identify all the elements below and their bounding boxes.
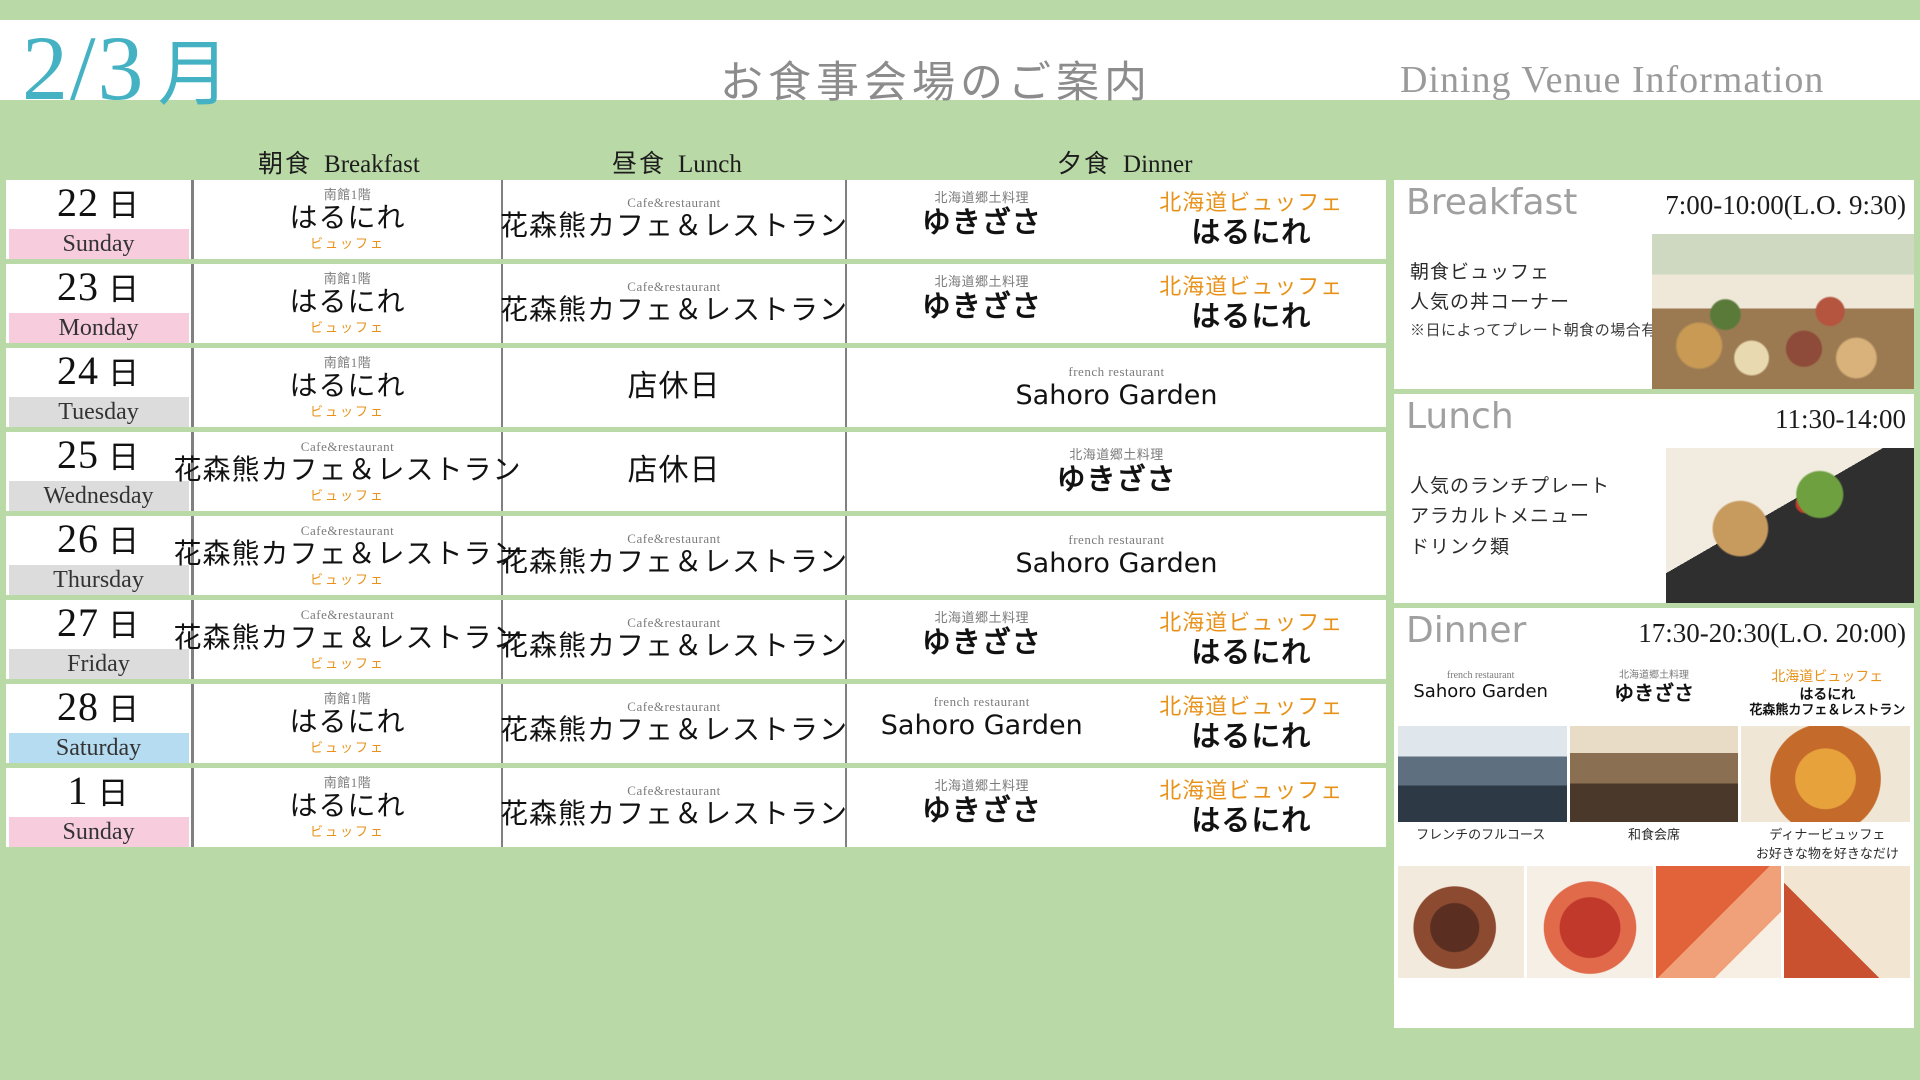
venue-sup-label: 南館1階: [324, 188, 372, 202]
venue-name: はるにれ: [1191, 301, 1311, 332]
dinner-cell[interactable]: french restaurantSahoro Garden: [847, 516, 1386, 595]
venue-dinner-0: 北海道郷土料理ゆきざさ: [847, 448, 1386, 495]
breakfast-cell[interactable]: 南館1階はるにれビュッフェ: [194, 180, 503, 259]
weekday-badge: Wednesday: [9, 481, 189, 511]
venue-sup-label: french restaurant: [1068, 533, 1164, 547]
venue-sup-label: 南館1階: [324, 272, 372, 286]
venue-breakfast: 南館1階はるにれビュッフェ: [289, 188, 405, 251]
column-header-lunch-jp: 昼食: [612, 151, 666, 178]
dinner-panel-venue-name: Sahoro Garden: [1413, 681, 1548, 702]
venue-sup-label: Cafe&restaurant: [627, 280, 720, 294]
day-number: 27日: [57, 601, 140, 647]
venue-dinner-0: french restaurantSahoro Garden: [847, 533, 1386, 578]
lunch-cell[interactable]: Cafe&restaurant花森熊カフェ＆レストラン: [503, 600, 847, 679]
lunch-cell[interactable]: Cafe&restaurant花森熊カフェ＆レストラン: [503, 684, 847, 763]
venue-sup-label: 南館1階: [324, 356, 372, 370]
venue-lunch: Cafe&restaurant花森熊カフェ＆レストラン: [500, 700, 848, 746]
venue-name: 花森熊カフェ＆レストラン: [500, 212, 848, 242]
panel-breakfast-note: ※日によってプレート朝食の場合有り: [1410, 319, 1672, 343]
lunch-cell[interactable]: 店休日: [503, 348, 847, 427]
venue-sub-label: ビュッフェ: [310, 573, 385, 587]
breakfast-cell[interactable]: 南館1階はるにれビュッフェ: [194, 684, 503, 763]
panel-lunch-line-3: ドリンク類: [1410, 533, 1610, 563]
table-row[interactable]: 24日Tuesday南館1階はるにれビュッフェ店休日french restaur…: [6, 348, 1386, 427]
panel-lunch: Lunch 11:30-14:00 人気のランチプレート アラカルトメニュー ド…: [1394, 394, 1914, 603]
venue-sup-label: 南館1階: [324, 692, 372, 706]
day-cell: 22日Sunday: [6, 180, 194, 259]
venue-sub-label: ビュッフェ: [310, 237, 385, 251]
panel-lunch-lines: 人気のランチプレート アラカルトメニュー ドリンク類: [1410, 472, 1610, 563]
panel-lunch-title: Lunch: [1406, 396, 1514, 437]
venue-sup-label: 北海道郷土料理: [934, 611, 1029, 625]
dinner-panel-venue-name: ゆきざさ: [1614, 681, 1694, 705]
venue-sup-label: 北海道郷土料理: [934, 191, 1029, 205]
dinner-panel-venue-sup: 北海道ビュッフェ: [1741, 670, 1914, 686]
dinner-cell[interactable]: french restaurantSahoro Garden: [847, 348, 1386, 427]
venue-sup-label: Cafe&restaurant: [301, 524, 394, 538]
dinner-panel-venue-0: french restaurantSahoro Garden: [1394, 670, 1567, 719]
venue-dinner-1: 北海道ビュッフェはるにれ: [1117, 275, 1387, 332]
venue-breakfast: 南館1階はるにれビュッフェ: [289, 272, 405, 335]
dinner-caption-list: フレンチのフルコース和食会席ディナービュッフェお好きな物を好きなだけ: [1394, 826, 1914, 864]
venue-lunch: Cafe&restaurant花森熊カフェ＆レストラン: [500, 616, 848, 662]
breakfast-cell[interactable]: Cafe&restaurant花森熊カフェ＆レストランビュッフェ: [194, 600, 503, 679]
panel-breakfast-line-2: 人気の丼コーナー: [1410, 288, 1672, 318]
day-unit: 日: [108, 188, 140, 223]
lunch-cell[interactable]: Cafe&restaurant花森熊カフェ＆レストラン: [503, 180, 847, 259]
weekday-badge: Thursday: [9, 565, 189, 595]
venue-sub-label: ビュッフェ: [310, 405, 385, 419]
venue-sub-label: ビュッフェ: [310, 825, 385, 839]
restaurant-interior-french-photo: [1398, 726, 1567, 822]
venue-name: 店休日: [628, 371, 721, 403]
venue-sub-label: ビュッフェ: [310, 657, 385, 671]
venue-lunch: Cafe&restaurant花森熊カフェ＆レストラン: [500, 196, 848, 242]
plated-dish-photo: [1784, 866, 1910, 978]
venue-name: はるにれ: [289, 204, 405, 234]
venue-sup-label: 北海道ビュッフェ: [1159, 695, 1343, 719]
venue-sub-label: ビュッフェ: [310, 489, 385, 503]
day-cell: 26日Thursday: [6, 516, 194, 595]
panel-dinner-title: Dinner: [1406, 610, 1526, 651]
restaurant-interior-japanese-photo: [1570, 726, 1739, 822]
panel-dinner: Dinner 17:30-20:30(L.O. 20:00) french re…: [1394, 608, 1914, 1028]
venue-name: 花森熊カフェ＆レストラン: [500, 716, 848, 746]
venue-name: ゆきざさ: [1056, 464, 1176, 495]
steak-dish-photo: [1398, 866, 1524, 978]
lunch-cell[interactable]: Cafe&restaurant花森熊カフェ＆レストラン: [503, 264, 847, 343]
table-row[interactable]: 26日ThursdayCafe&restaurant花森熊カフェ＆レストランビュ…: [6, 516, 1386, 595]
venue-sup-label: 北海道ビュッフェ: [1159, 275, 1343, 299]
venue-dinner-0: french restaurantSahoro Garden: [847, 365, 1386, 410]
day-unit: 日: [108, 272, 140, 307]
crab-dish-photo: [1656, 866, 1782, 978]
venue-sup-label: 北海道郷土料理: [934, 275, 1029, 289]
venue-name: はるにれ: [1191, 721, 1311, 752]
venue-sub-label: ビュッフェ: [310, 741, 385, 755]
venue-sup-label: Cafe&restaurant: [627, 532, 720, 546]
lunch-cell[interactable]: Cafe&restaurant花森熊カフェ＆レストラン: [503, 768, 847, 847]
column-header-dinner: 夕食Dinner: [1057, 144, 1192, 180]
venue-lunch: Cafe&restaurant花森熊カフェ＆レストラン: [500, 280, 848, 326]
dinner-cell[interactable]: french restaurantSahoro Garden北海道ビュッフェはる…: [847, 684, 1386, 763]
panel-breakfast-lines: 朝食ビュッフェ 人気の丼コーナー ※日によってプレート朝食の場合有り: [1410, 258, 1672, 343]
dinner-cell[interactable]: 北海道郷土料理ゆきざさ北海道ビュッフェはるにれ: [847, 180, 1386, 259]
venue-name: はるにれ: [289, 708, 405, 738]
venue-dinner-1: 北海道ビュッフェはるにれ: [1117, 191, 1387, 248]
venue-sup-label: 北海道ビュッフェ: [1159, 779, 1343, 803]
venue-sup-label: Cafe&restaurant: [627, 196, 720, 210]
weekday-badge: Sunday: [9, 817, 189, 847]
column-header-lunch: 昼食Lunch: [612, 144, 742, 180]
breakfast-cell[interactable]: 南館1階はるにれビュッフェ: [194, 768, 503, 847]
day-number: 28日: [57, 685, 140, 731]
venue-breakfast: Cafe&restaurant花森熊カフェ＆レストランビュッフェ: [174, 608, 522, 671]
venue-name: 花森熊カフェ＆レストラン: [500, 296, 848, 326]
venue-name: はるにれ: [1191, 217, 1311, 248]
dinner-caption-2: ディナービュッフェお好きな物を好きなだけ: [1741, 826, 1914, 864]
dinner-caption-0: フレンチのフルコース: [1394, 826, 1567, 864]
venue-name: 花森熊カフェ＆レストラン: [174, 540, 522, 570]
venue-lunch: Cafe&restaurant花森熊カフェ＆レストラン: [500, 532, 848, 578]
panel-lunch-hours: 11:30-14:00: [1775, 404, 1906, 435]
venue-name: 花森熊カフェ＆レストラン: [174, 624, 522, 654]
dinner-cell[interactable]: 北海道郷土料理ゆきざさ北海道ビュッフェはるにれ: [847, 264, 1386, 343]
date-unit: 月: [158, 35, 232, 115]
venue-sup-label: 北海道郷土料理: [1069, 448, 1164, 462]
venue-breakfast: 南館1階はるにれビュッフェ: [289, 692, 405, 755]
header-band: 2/3月 お食事会場のご案内 Dining Venue Information: [0, 20, 1920, 100]
venue-name: ゆきざさ: [922, 291, 1042, 322]
dinner-cell[interactable]: 北海道郷土料理ゆきざさ: [847, 432, 1386, 511]
venue-sup-label: Cafe&restaurant: [627, 700, 720, 714]
day-cell: 23日Monday: [6, 264, 194, 343]
weekday-badge: Monday: [9, 313, 189, 343]
breakfast-cell[interactable]: 南館1階はるにれビュッフェ: [194, 264, 503, 343]
day-unit: 日: [108, 608, 140, 643]
venue-sup-label: Cafe&restaurant: [627, 616, 720, 630]
venue-dinner-0: 北海道郷土料理ゆきざさ: [847, 275, 1117, 332]
page-title-jp: お食事会場のご案内: [720, 48, 1152, 110]
breakfast-cell[interactable]: 南館1階はるにれビュッフェ: [194, 348, 503, 427]
date-value: 2/3: [22, 17, 146, 119]
day-number: 26日: [57, 517, 140, 563]
meal-info-panels: Breakfast 7:00-10:00(L.O. 9:30) 朝食ビュッフェ …: [1394, 180, 1914, 1033]
venue-name: はるにれ: [1191, 637, 1311, 668]
soup-dish-photo: [1527, 866, 1653, 978]
day-unit: 日: [108, 524, 140, 559]
day-cell: 28日Saturday: [6, 684, 194, 763]
venue-name: Sahoro Garden: [1016, 381, 1218, 410]
lunch-cell[interactable]: Cafe&restaurant花森熊カフェ＆レストラン: [503, 516, 847, 595]
venue-sup-label: 北海道ビュッフェ: [1159, 191, 1343, 215]
dinner-cell[interactable]: 北海道郷土料理ゆきざさ北海道ビュッフェはるにれ: [847, 600, 1386, 679]
panel-breakfast-title: Breakfast: [1406, 182, 1577, 223]
dinner-panel-venue-name: はるにれ: [1799, 687, 1855, 703]
column-header-breakfast: 朝食Breakfast: [258, 144, 420, 180]
day-unit: 日: [108, 440, 140, 475]
venue-name: ゆきざさ: [922, 207, 1042, 238]
venue-dinner-1: 北海道ビュッフェはるにれ: [1117, 779, 1387, 836]
dining-venue-information-page: 2/3月 お食事会場のご案内 Dining Venue Information …: [0, 0, 1920, 1080]
venue-name: はるにれ: [1191, 805, 1311, 836]
venue-name: はるにれ: [289, 288, 405, 318]
panel-breakfast-hours: 7:00-10:00(L.O. 9:30): [1665, 190, 1906, 221]
venue-dinner-0: 北海道郷土料理ゆきざさ: [847, 191, 1117, 248]
day-unit: 日: [108, 692, 140, 727]
page-title-en: Dining Venue Information: [1400, 58, 1824, 102]
day-number: 22日: [57, 181, 140, 227]
breakfast-cell[interactable]: Cafe&restaurant花森熊カフェ＆レストランビュッフェ: [194, 432, 503, 511]
venue-name: Sahoro Garden: [1016, 549, 1218, 578]
venue-name: 花森熊カフェ＆レストラン: [500, 800, 848, 830]
venue-sub-label: ビュッフェ: [310, 321, 385, 335]
column-header-dinner-jp: 夕食: [1057, 151, 1111, 178]
venue-sup-label: french restaurant: [1068, 365, 1164, 379]
day-cell: 1日Sunday: [6, 768, 194, 847]
venue-name: 花森熊カフェ＆レストラン: [500, 632, 848, 662]
venue-breakfast: Cafe&restaurant花森熊カフェ＆レストランビュッフェ: [174, 524, 522, 587]
day-number: 25日: [57, 433, 140, 479]
venue-dinner-0: 北海道郷土料理ゆきざさ: [847, 611, 1117, 668]
panel-dinner-hours: 17:30-20:30(L.O. 20:00): [1638, 618, 1906, 649]
panel-breakfast: Breakfast 7:00-10:00(L.O. 9:30) 朝食ビュッフェ …: [1394, 180, 1914, 389]
column-header-lunch-en: Lunch: [678, 151, 742, 178]
day-unit: 日: [108, 356, 140, 391]
dinner-panel-venue-1: 北海道郷土料理ゆきざさ: [1567, 670, 1740, 719]
venue-sup-label: Cafe&restaurant: [301, 608, 394, 622]
column-headers: 朝食Breakfast 昼食Lunch 夕食Dinner: [0, 144, 1390, 180]
buffet-dish-photo: [1741, 726, 1910, 822]
venue-dinner-0: 北海道郷土料理ゆきざさ: [847, 779, 1117, 836]
day-number: 23日: [57, 265, 140, 311]
day-cell: 24日Tuesday: [6, 348, 194, 427]
venue-name: はるにれ: [289, 792, 405, 822]
table-row[interactable]: 28日Saturday南館1階はるにれビュッフェCafe&restaurant花…: [6, 684, 1386, 763]
venue-breakfast: 南館1階はるにれビュッフェ: [289, 356, 405, 419]
venue-dinner-1: 北海道ビュッフェはるにれ: [1117, 611, 1387, 668]
venue-name: Sahoro Garden: [881, 711, 1083, 740]
venue-dinner-0: french restaurantSahoro Garden: [847, 695, 1117, 752]
panel-lunch-line-1: 人気のランチプレート: [1410, 472, 1610, 502]
weekday-badge: Tuesday: [9, 397, 189, 427]
breakfast-cell[interactable]: Cafe&restaurant花森熊カフェ＆レストランビュッフェ: [194, 516, 503, 595]
venue-lunch: 店休日: [628, 371, 721, 403]
lunch-plate-hamburg-photo: [1666, 448, 1914, 603]
panel-breakfast-line-1: 朝食ビュッフェ: [1410, 258, 1672, 288]
day-cell: 25日Wednesday: [6, 432, 194, 511]
venue-sup-label: Cafe&restaurant: [301, 440, 394, 454]
breakfast-buffet-bowls-photo: [1652, 234, 1914, 389]
venue-name: 花森熊カフェ＆レストラン: [500, 548, 848, 578]
dinner-panel-venue-2: 北海道ビュッフェはるにれ花森熊カフェ＆レストラン: [1741, 670, 1914, 719]
table-row[interactable]: 1日Sunday南館1階はるにれビュッフェCafe&restaurant花森熊カ…: [6, 768, 1386, 847]
venue-sup-label: 北海道ビュッフェ: [1159, 611, 1343, 635]
day-cell: 27日Friday: [6, 600, 194, 679]
venue-name: 花森熊カフェ＆レストラン: [174, 456, 522, 486]
day-number: 24日: [57, 349, 140, 395]
day-unit: 日: [98, 776, 130, 811]
panel-lunch-line-2: アラカルトメニュー: [1410, 502, 1610, 532]
table-row[interactable]: 25日WednesdayCafe&restaurant花森熊カフェ＆レストランビ…: [6, 432, 1386, 511]
lunch-cell[interactable]: 店休日: [503, 432, 847, 511]
venue-sup-label: 北海道郷土料理: [934, 779, 1029, 793]
venue-lunch: 店休日: [628, 455, 721, 487]
dinner-photo-row-1: [1398, 726, 1910, 822]
venue-breakfast: Cafe&restaurant花森熊カフェ＆レストランビュッフェ: [174, 440, 522, 503]
venue-breakfast: 南館1階はるにれビュッフェ: [289, 776, 405, 839]
weekday-badge: Saturday: [9, 733, 189, 763]
venue-dinner-1: 北海道ビュッフェはるにれ: [1117, 695, 1387, 752]
weekday-badge: Friday: [9, 649, 189, 679]
weekday-badge: Sunday: [9, 229, 189, 259]
table-row[interactable]: 22日Sunday南館1階はるにれビュッフェCafe&restaurant花森熊…: [6, 180, 1386, 259]
dinner-venue-list: french restaurantSahoro Garden北海道郷土料理ゆきざ…: [1394, 670, 1914, 719]
table-row[interactable]: 27日FridayCafe&restaurant花森熊カフェ＆レストランビュッフ…: [6, 600, 1386, 679]
venue-lunch: Cafe&restaurant花森熊カフェ＆レストラン: [500, 784, 848, 830]
venue-sup-label: 南館1階: [324, 776, 372, 790]
table-row[interactable]: 23日Monday南館1階はるにれビュッフェCafe&restaurant花森熊…: [6, 264, 1386, 343]
day-number: 1日: [68, 769, 130, 815]
venue-name: ゆきざさ: [922, 627, 1042, 658]
venue-sup-label: Cafe&restaurant: [627, 784, 720, 798]
schedule-table: 22日Sunday南館1階はるにれビュッフェCafe&restaurant花森熊…: [6, 180, 1386, 847]
date-heading: 2/3月: [22, 22, 232, 114]
column-header-breakfast-en: Breakfast: [324, 151, 420, 178]
column-header-dinner-en: Dinner: [1123, 151, 1192, 178]
dinner-cell[interactable]: 北海道郷土料理ゆきざさ北海道ビュッフェはるにれ: [847, 768, 1386, 847]
venue-name: はるにれ: [289, 372, 405, 402]
column-header-breakfast-jp: 朝食: [258, 151, 312, 178]
dinner-caption-1: 和食会席: [1567, 826, 1740, 864]
venue-name: 店休日: [628, 455, 721, 487]
venue-sup-label: french restaurant: [934, 695, 1030, 709]
venue-name: ゆきざさ: [922, 795, 1042, 826]
dinner-panel-venue-name-2: 花森熊カフェ＆レストラン: [1741, 704, 1914, 719]
dinner-photo-row-2: [1398, 866, 1910, 978]
